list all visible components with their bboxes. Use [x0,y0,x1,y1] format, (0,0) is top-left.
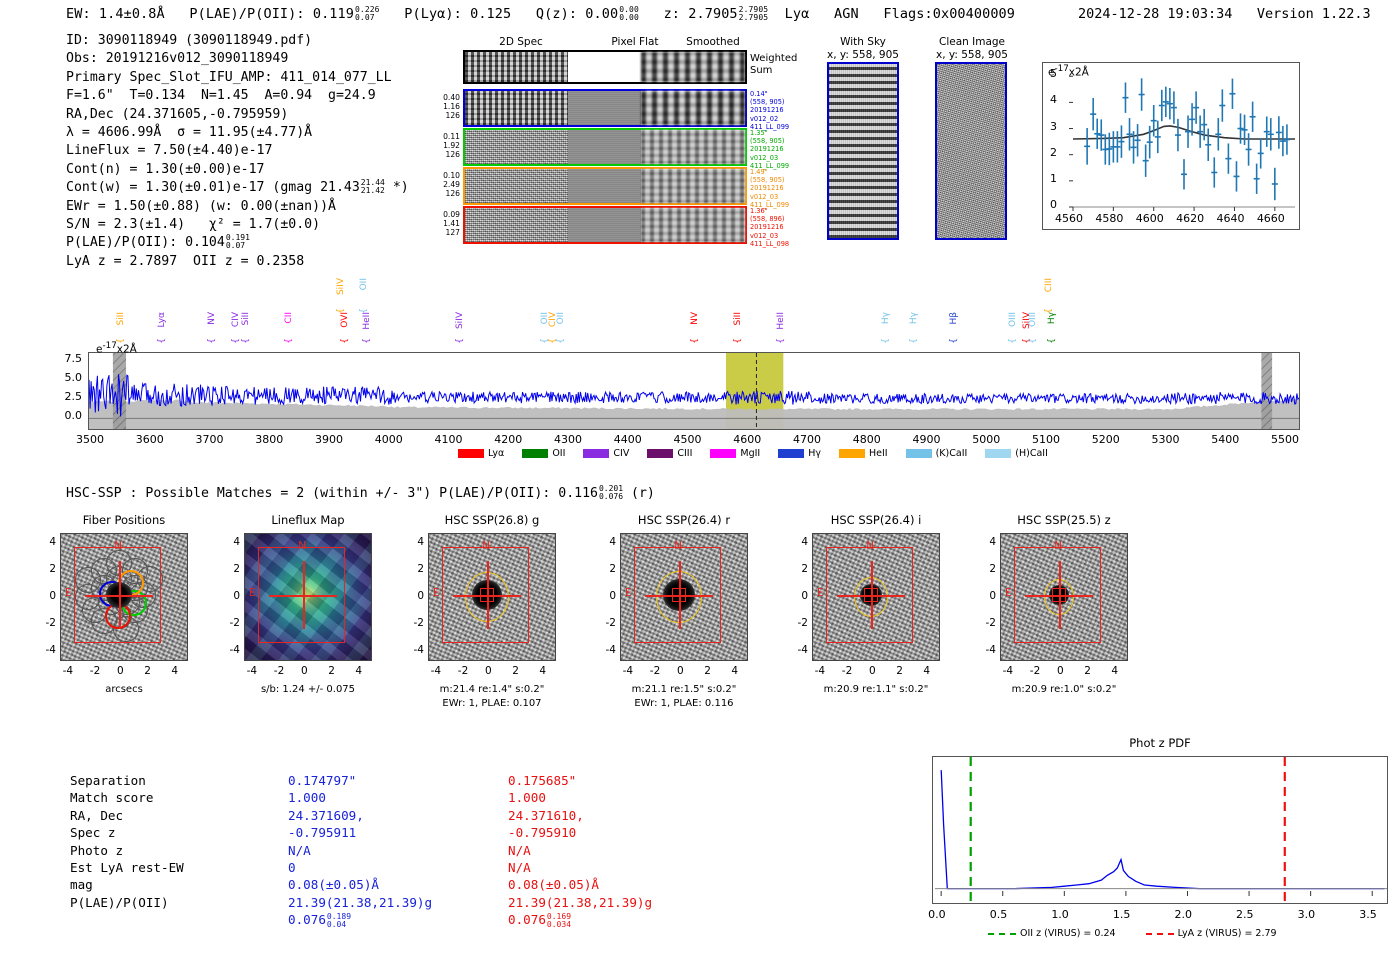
spec2d-weighted-2dspec [465,52,568,82]
axis-tick-label: -2 [274,665,284,677]
axis-tick-label: 5200 [1092,433,1120,446]
spec2d-row2-left-labels: 0.102.49126 [432,171,460,199]
cutout-image-5[interactable]: NE [1000,533,1128,661]
photz-svg [933,757,1389,905]
legend-swatch-mgii [710,449,736,458]
axis-tick-label: -4 [980,644,996,656]
cutout-sublabel-2-2: EWr: 1, PLAE: 0.107 [408,697,576,710]
emission-line-label-ovi: OVI [340,312,350,328]
spec2d-row3-2dspec [465,208,568,242]
emission-line-label-cii: CII [284,312,294,324]
axis-tick-label: -2 [1030,665,1040,677]
axis-tick-label: 0.5 [990,908,1008,921]
spec2d-row-1 [463,128,747,166]
axis-tick-label: 4600 [733,433,761,446]
header-meta: 2024-12-28 19:03:34 Version 1.22.3 [1078,6,1371,22]
header-plae-label: P(LAE)/P(OII): [189,6,304,22]
axis-tick-label: 2.5 [1236,908,1254,921]
emission-line-label-hγ: Hγ [909,312,919,324]
spectrum-legend: LyαOIICIVCIIIMgIIHγHeII(K)CaII(H)CaII [458,448,1062,459]
spectrum-legend-item: OII [522,448,565,459]
legend-label: OII [552,448,565,459]
axis-tick-label: -4 [408,644,424,656]
legend-label: (K)CaII [936,448,968,459]
emission-line-label-siiv: SiIV [455,312,465,329]
cutout-image-4[interactable]: NE [812,533,940,661]
spectrum-legend-item: Lyα [458,448,504,459]
cutout-title-0: Fiber Positions [48,513,200,527]
emission-line-label-hγ: Hγ [881,312,891,324]
spec2d-row1-flat [568,130,641,164]
spec2d-row0-2dspec [465,91,568,125]
legend-swatch-hγ [778,449,804,458]
header-classification: AGN [834,6,859,22]
axis-tick-label: 3900 [315,433,343,446]
header-version: Version 1.22.3 [1257,6,1371,22]
emission-line-label-heii: HeII [362,312,372,330]
axis-tick-label: 4000 [375,433,403,446]
axis-tick-label: 5100 [1032,433,1060,446]
header-qz-label: Q(z): [536,6,577,22]
axis-tick-label: -4 [815,665,825,677]
header-plya: P(Lyα): 0.125 [404,6,511,22]
hsc-plae-errors: 0.2010.076 [599,485,623,501]
emission-line-brace: { [340,338,350,344]
spec2d-weighted-flat [568,52,641,82]
crosshair-vertical [1059,561,1060,629]
hsc-plae-value: 0.116 [558,486,598,501]
compass-east: E [249,587,256,599]
axis-tick-label: 4 [224,536,240,548]
axis-tick-label: 4620 [1176,212,1204,225]
axis-tick-label: 2 [224,563,240,575]
emission-line-brace: { [881,338,891,344]
spec2d-row0-right-labels: 0.14"(558, 905)20191216v012_02411_LL_099 [750,90,789,131]
axis-tick-label: 0 [408,590,424,602]
spec2d-col-title-smoothed: Smoothed [668,36,758,48]
spec2d-weighted-smoothed [641,52,745,82]
emission-line-brace: { [336,308,346,314]
emission-line-brace: { [231,338,241,344]
axis-tick-label: 4 [40,536,56,548]
info-lineflux: LineFlux = 7.50(±4.40)e-17 [66,142,409,160]
axis-tick-label: 2 [896,665,903,677]
legend-label: (H)CaII [1015,448,1048,459]
axis-tick-label: 4100 [434,433,462,446]
axis-tick-label: 4 [539,665,546,677]
axis-tick-label: 2 [512,665,519,677]
legend-swatch-civ [583,449,609,458]
compass-north: N [298,540,306,552]
axis-tick-label: 3.0 [1298,908,1316,921]
legend-swatch-heii [839,449,865,458]
info-primary-spec: Primary Spec_Slot_IFU_AMP: 411_014_077_L… [66,69,409,87]
axis-tick-label: 4640 [1216,212,1244,225]
axis-tick-label: -2 [90,665,100,677]
legend-label: MgII [740,448,760,459]
compass-north: N [866,540,874,552]
axis-tick-label: 4600 [1136,212,1164,225]
spectrum-legend-item: CIV [583,448,629,459]
axis-tick-label: 4800 [853,433,881,446]
axis-tick-label: 0 [40,590,56,602]
axis-tick-label: -2 [792,617,808,629]
line-fit-plot [1042,62,1300,230]
axis-tick-label: 0.0 [928,908,946,921]
photz-legend-dash [1146,933,1174,935]
cutout-image-1[interactable]: NE [244,533,372,661]
axis-tick-label: 4 [792,536,808,548]
spec2d-row0-flat [568,91,641,125]
emission-line-brace: { [207,338,217,344]
axis-tick-label: -4 [224,644,240,656]
spectrum-legend-item: (K)CaII [906,448,968,459]
spectrum-legend-item: Hγ [778,448,821,459]
cutout-sublabel-1-0: arcsecs [40,683,208,696]
header-qz-errors: 0.000.00 [619,6,639,22]
emission-line-label-hβ: Hβ [949,312,959,325]
axis-tick-label: -4 [431,665,441,677]
axis-tick-label: 2 [1050,146,1057,159]
axis-tick-label: 0 [485,665,492,677]
axis-tick-label: 3 [1050,120,1057,133]
spec2d-weighted-sum-row [463,50,747,84]
photz-legend-item: LyA z (VIRUS) = 2.79 [1146,928,1277,939]
cutout-sublabel-1-2: m:21.4 re:1.4" s:0.2" [408,683,576,696]
legend-label: CIII [677,448,692,459]
axis-tick-label: 0 [1050,198,1057,211]
emission-line-label-nv: NV [690,312,700,325]
axis-tick-label: 2 [704,665,711,677]
axis-tick-label: 4660 [1257,212,1285,225]
with-sky-title: With Skyx, y: 558, 905 [820,36,906,61]
info-id: ID: 3090118949 (3090118949.pdf) [66,32,409,50]
legend-swatch-lyα [458,449,484,458]
info-cont-w: Cont(w) = 1.30(±0.01)e-17 (gmag 21.4321.… [66,179,409,197]
axis-tick-label: 5500 [1271,433,1299,446]
axis-tick-label: 4 [408,536,424,548]
axis-tick-label: 4900 [913,433,941,446]
with-sky-image [827,62,899,240]
photz-legend-label: LyA z (VIRUS) = 2.79 [1178,928,1277,939]
axis-tick-label: 4580 [1095,212,1123,225]
axis-tick-label: -4 [247,665,257,677]
compass-north: N [1054,540,1062,552]
legend-swatch-(k)caii [906,449,932,458]
photz-title: Phot z PDF [930,736,1390,750]
cutout-sublabel-2-3: EWr: 1, PLAE: 0.116 [600,697,768,710]
photz-legend-label: OII z (VIRUS) = 0.24 [1020,928,1116,939]
emission-line-brace: { [1008,338,1018,344]
cutout-image-2[interactable]: NE [428,533,556,661]
legend-swatch-oii [522,449,548,458]
emission-line-label-siii: SiII [241,312,251,326]
axis-tick-label: -4 [1003,665,1013,677]
axis-tick-label: 4 [600,536,616,548]
compass-east: E [433,587,440,599]
info-cont-n: Cont(n) = 1.30(±0.00)e-17 [66,161,409,179]
emission-line-brace: { [455,338,465,344]
axis-tick-label: -2 [408,617,424,629]
emission-line-label-oii: OII [556,312,566,324]
legend-label: Hγ [808,448,821,459]
axis-tick-label: -4 [792,644,808,656]
match-table-col1: 0.174797" 1.000 24.371609, -0.795911 N/A… [288,772,432,929]
axis-tick-label: 3500 [76,433,104,446]
axis-tick-label: -2 [980,617,996,629]
axis-tick-label: 4 [1050,93,1057,106]
axis-tick-label: 0.0 [52,409,82,422]
compass-north: N [482,540,490,552]
full-spectrum-svg [89,353,1299,429]
info-obs: Obs: 20191216v012_3090118949 [66,50,409,68]
emission-line-label-oii: OII [359,278,369,290]
axis-tick-label: -2 [40,617,56,629]
source-info-block: ID: 3090118949 (3090118949.pdf) Obs: 201… [66,32,409,271]
info-radec: RA,Dec (24.371605,-0.795959) [66,106,409,124]
axis-tick-label: 5.0 [52,371,82,384]
spec2d-row3-flat [568,208,641,242]
match-table-labels: Separation Match score RA, Dec Spec z Ph… [70,772,260,911]
emission-line-brace: { [949,338,959,344]
info-ewr: EWr = 1.50(±0.88) (w: 0.00(±nan))Å [66,198,409,216]
cutout-sublabel-1-1: s/b: 1.24 +/- 0.075 [224,683,392,696]
axis-tick-label: 4500 [674,433,702,446]
cutout-sublabel-1-5: m:20.9 re:1.0" s:0.2" [980,683,1148,696]
cutout-image-3[interactable]: NE [620,533,748,661]
axis-tick-label: 0 [224,590,240,602]
emission-line-label-civ: CIV [231,312,241,327]
header-z-label: z: [664,6,680,22]
axis-tick-label: -4 [600,644,616,656]
emission-line-brace: { [1047,338,1057,344]
header-summary-line: EW: 1.4±0.8Å P(LAE)/P(OII): 0.1190.2260.… [66,6,1015,22]
spectrum-legend-item: MgII [710,448,760,459]
axis-tick-label: 3800 [255,433,283,446]
spec2d-row-3 [463,206,747,244]
axis-tick-label: 3.5 [1359,908,1377,921]
axis-tick-label: 2 [980,563,996,575]
header-flags: Flags:0x00400009 [883,6,1015,22]
spec2d-row3-left-labels: 0.091.41127 [432,210,460,238]
axis-tick-label: 3700 [195,433,223,446]
emission-line-label-lyα: Lyα [157,312,167,327]
axis-tick-label: 4700 [793,433,821,446]
cutout-image-0[interactable]: NE [60,533,188,661]
axis-tick-label: 0 [980,590,996,602]
emission-line-brace: { [157,338,167,344]
legend-swatch-(h)caii [985,449,1011,458]
axis-tick-label: 2 [600,563,616,575]
legend-label: Lyα [488,448,504,459]
match-table-col2: 0.175685" 1.000 24.371610, -0.795910 N/A… [508,772,652,929]
spec2d-row3-right-labels: 1.36"(558, 896)20191216v012_03411_LL_098 [750,207,789,248]
legend-label: HeII [869,448,888,459]
axis-tick-label: 4 [731,665,738,677]
cutout-title-2: HSC SSP(26.8) g [416,513,568,527]
axis-tick-label: 2 [144,665,151,677]
axis-tick-label: 5300 [1152,433,1180,446]
spec2d-row2-flat [568,169,641,203]
header-ew: EW: 1.4±0.8Å [66,6,165,22]
compass-east: E [65,587,72,599]
spec2d-col-title-2dspec: 2D Spec [462,36,580,48]
photz-legend-item: OII z (VIRUS) = 0.24 [988,928,1116,939]
axis-tick-label: 0 [792,590,808,602]
emission-line-brace: { [690,338,700,344]
emission-line-label-siiv: SiIV [336,278,346,295]
cutout-sublabel-1-3: m:21.1 re:1.5" s:0.2" [600,683,768,696]
axis-tick-label: 5 [1050,67,1057,80]
photz-legend: OII z (VIRUS) = 0.24LyA z (VIRUS) = 2.79 [988,928,1303,939]
axis-tick-label: 4560 [1055,212,1083,225]
info-plae-errors: 0.1910.07 [226,234,250,250]
emission-line-brace: { [776,338,786,344]
axis-tick-label: -4 [623,665,633,677]
crosshair-vertical [487,561,488,629]
cutout-sublabel-1-4: m:20.9 re:1.1" s:0.2" [792,683,960,696]
axis-tick-label: 4 [1111,665,1118,677]
axis-tick-label: 7.5 [52,352,82,365]
axis-tick-label: 4 [355,665,362,677]
axis-tick-label: 1.0 [1051,908,1069,921]
axis-tick-label: 2.0 [1174,908,1192,921]
full-spectrum-plot [88,352,1300,430]
compass-north: N [114,540,122,552]
axis-tick-label: 2 [408,563,424,575]
emission-line-brace: { [241,338,251,344]
axis-tick-label: 0 [1057,665,1064,677]
crosshair-vertical [119,561,120,629]
hsc-header: HSC-SSP : Possible Matches = 2 (within +… [66,485,655,501]
emission-line-label-hγ: Hγ [1047,312,1057,324]
axis-tick-label: 0 [600,590,616,602]
spec2d-row0-left-labels: 0.401.16126 [432,93,460,121]
emission-line-brace: { [909,338,919,344]
axis-tick-label: 2 [1084,665,1091,677]
axis-tick-label: -4 [63,665,73,677]
clean-image-title: Clean Imagex, y: 558, 905 [922,36,1022,61]
axis-tick-label: 5000 [972,433,1000,446]
info-wavelength: λ = 4606.99Å σ = 11.95(±4.77)Å [66,124,409,142]
spec2d-row1-2dspec [465,130,568,164]
compass-east: E [625,587,632,599]
spectrum-legend-item: HeII [839,448,888,459]
axis-tick-label: 0 [301,665,308,677]
legend-swatch-ciii [647,449,673,458]
spec2d-row-0 [463,89,747,127]
emission-line-brace: { [1028,338,1038,344]
header-z-value: 2.7905 [688,6,737,22]
axis-tick-label: 1.5 [1113,908,1131,921]
header-plae-errors: 0.2260.07 [355,6,380,22]
spec2d-row1-right-labels: 1.35"(558, 905)20191216v012_03411_LL_099 [750,129,789,170]
emission-line-brace: { [362,338,372,344]
axis-tick-label: 5400 [1211,433,1239,446]
axis-tick-label: 1 [1050,172,1057,185]
match-col1-plae-errors: 0.1890.04 [327,913,351,929]
axis-tick-label: -2 [458,665,468,677]
info-snr: S/N = 2.3(±1.4) χ² = 1.7(±0.0) [66,216,409,234]
axis-tick-label: 4 [923,665,930,677]
axis-tick-label: 4 [980,536,996,548]
axis-tick-label: 2 [328,665,335,677]
emission-line-label-nv: NV [207,312,217,325]
spec2d-row2-right-labels: 1.49"(558, 905)20191216v012_03411_LL_099 [750,168,789,209]
photz-legend-dash [988,933,1016,935]
spec2d-row0-smoothed [641,91,745,125]
info-gmag-errors: 21.4421.42 [361,179,385,195]
axis-tick-label: 0 [117,665,124,677]
spectrum-legend-item: CIII [647,448,692,459]
spec2d-row-2 [463,167,747,205]
axis-tick-label: 2 [40,563,56,575]
header-z-errors: 2.79052.7905 [739,6,769,22]
cutout-title-5: HSC SSP(25.5) z [988,513,1140,527]
axis-tick-label: -2 [842,665,852,677]
spectrum-legend-item: (H)CaII [985,448,1048,459]
info-redshifts: LyA z = 2.7897 OII z = 0.2358 [66,253,409,271]
info-plae: P(LAE)/P(OII): 0.1040.1910.07 [66,234,409,252]
axis-tick-label: 4300 [554,433,582,446]
cutout-title-3: HSC SSP(26.4) r [608,513,760,527]
axis-tick-label: -2 [600,617,616,629]
axis-tick-label: 3600 [136,433,164,446]
axis-tick-label: -2 [650,665,660,677]
axis-tick-label: 0 [869,665,876,677]
header-qz-value: 0.00 [585,6,618,22]
header-timestamp: 2024-12-28 19:03:34 [1078,6,1232,22]
axis-tick-label: 4 [171,665,178,677]
weighted-sum-label: Weighted Sum [750,53,797,76]
emission-line-label-oiii: OIII [1008,312,1018,327]
axis-tick-label: 2 [792,563,808,575]
clean-image [935,62,1007,240]
axis-tick-label: 4200 [494,433,522,446]
spec2d-row3-smoothed [641,208,745,242]
cutout-title-1: Lineflux Map [232,513,384,527]
axis-tick-label: 4400 [614,433,642,446]
emission-line-brace: { [284,338,294,344]
spec2d-row1-left-labels: 0.111.92126 [432,132,460,160]
cutout-title-4: HSC SSP(26.4) i [800,513,952,527]
emission-line-label-siii: SiII [733,312,743,326]
crosshair-vertical [871,561,872,629]
info-seeing: F=1.6" T=0.134 N=1.45 A=0.94 g=24.9 [66,87,409,105]
compass-east: E [817,587,824,599]
photz-pdf-plot [932,756,1388,904]
crosshair-vertical [303,561,304,629]
crosshair-vertical [679,561,680,629]
spec2d-row1-smoothed [641,130,745,164]
emission-line-label-heii: HeII [776,312,786,330]
emission-line-label-ciii: CIII [1044,278,1054,292]
spec2d-row2-2dspec [465,169,568,203]
axis-tick-label: 2.5 [52,390,82,403]
spectrum-yunit: e-17x2Å [96,341,137,356]
emission-line-label-siii: SiII [116,312,126,326]
emission-line-brace: { [733,338,743,344]
emission-line-label-oiii: OIII [1028,312,1038,327]
header-plae-value: 0.119 [313,6,354,22]
spec2d-row2-smoothed [641,169,745,203]
header-line-id: Lyα [785,6,810,22]
line-fit-svg [1043,63,1301,231]
match-col2-plae-errors: 0.1690.034 [547,913,571,929]
axis-tick-label: -2 [224,617,240,629]
legend-label: CIV [613,448,629,459]
axis-tick-label: 0 [677,665,684,677]
